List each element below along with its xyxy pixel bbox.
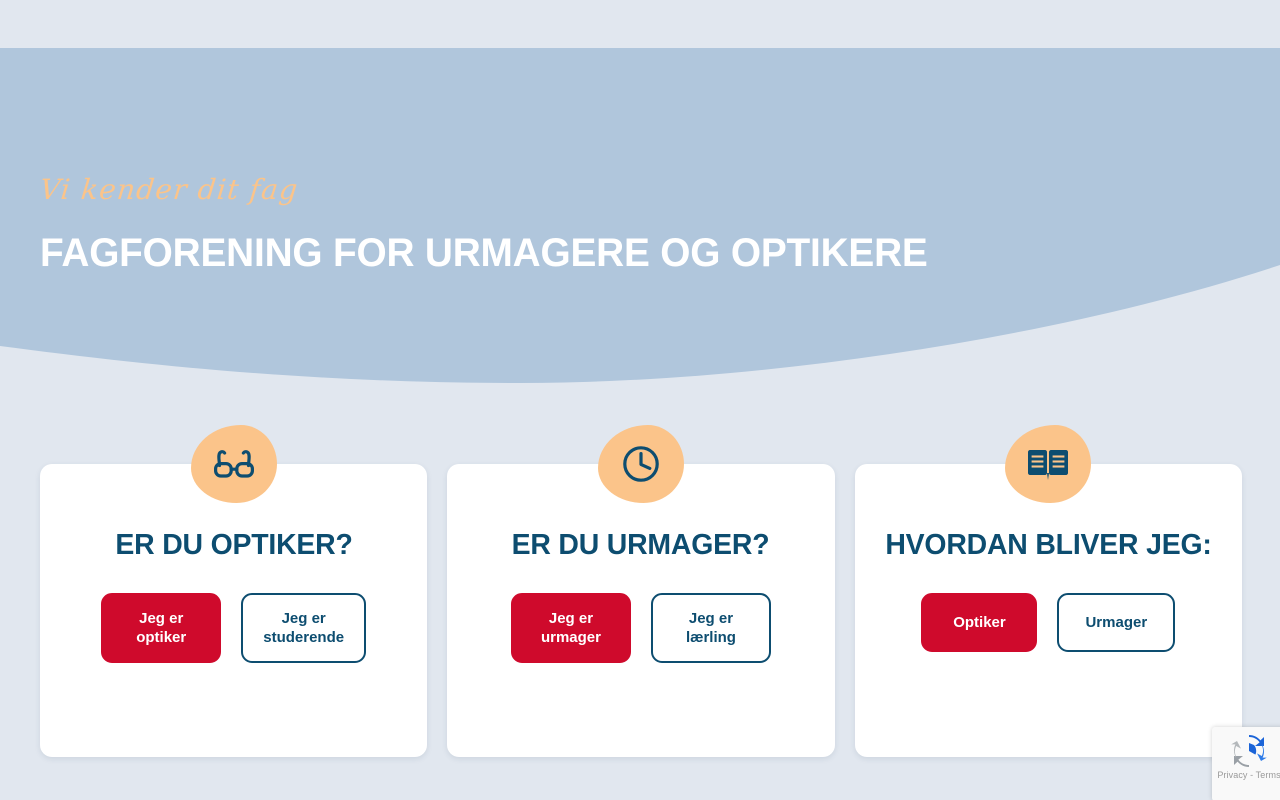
button-jeg-er-studerende[interactable]: Jeg er studerende [241, 593, 366, 663]
button-jeg-er-laerling[interactable]: Jeg er lærling [651, 593, 771, 663]
card-hvordan-bliver-jeg: HVORDAN BLIVER JEG: Optiker Urmager [855, 464, 1242, 757]
card-row: ER DU OPTIKER? Jeg er optiker Jeg er stu… [40, 464, 1242, 757]
recaptcha-logo-wrapper [1212, 733, 1280, 769]
glasses-icon [212, 449, 256, 479]
open-book-icon-badge [1005, 425, 1091, 503]
button-optiker[interactable]: Optiker [921, 593, 1037, 652]
button-urmager[interactable]: Urmager [1057, 593, 1175, 652]
card-optiker: ER DU OPTIKER? Jeg er optiker Jeg er stu… [40, 464, 427, 757]
card-title: ER DU OPTIKER? [97, 526, 370, 564]
page-root: Vi kender dit fag FAGFORENING FOR URMAGE… [0, 0, 1280, 800]
recaptcha-legal-text[interactable]: Privacy - Terms [1212, 769, 1280, 781]
hero-title: FAGFORENING FOR URMAGERE OG OPTIKERE [40, 231, 928, 275]
hero-curved-background [0, 48, 1280, 388]
card-title: HVORDAN BLIVER JEG: [868, 526, 1230, 564]
glasses-icon-badge [191, 425, 277, 503]
card-title: ER DU URMAGER? [494, 526, 787, 564]
button-jeg-er-optiker[interactable]: Jeg er optiker [101, 593, 221, 663]
button-jeg-er-urmager[interactable]: Jeg er urmager [511, 593, 631, 663]
recaptcha-logo-icon [1231, 733, 1267, 769]
clock-icon [621, 444, 661, 484]
open-book-icon [1027, 447, 1069, 481]
hero-tagline: Vi kender dit fag [38, 173, 300, 206]
recaptcha-badge[interactable]: Privacy - Terms [1212, 727, 1280, 800]
hero-section: Vi kender dit fag FAGFORENING FOR URMAGE… [0, 48, 1280, 388]
card-button-row: Jeg er optiker Jeg er studerende [101, 593, 366, 663]
card-button-row: Optiker Urmager [921, 593, 1175, 652]
clock-icon-badge [598, 425, 684, 503]
top-bar [0, 0, 1280, 48]
card-button-row: Jeg er urmager Jeg er lærling [511, 593, 771, 663]
card-urmager: ER DU URMAGER? Jeg er urmager Jeg er lær… [447, 464, 834, 757]
